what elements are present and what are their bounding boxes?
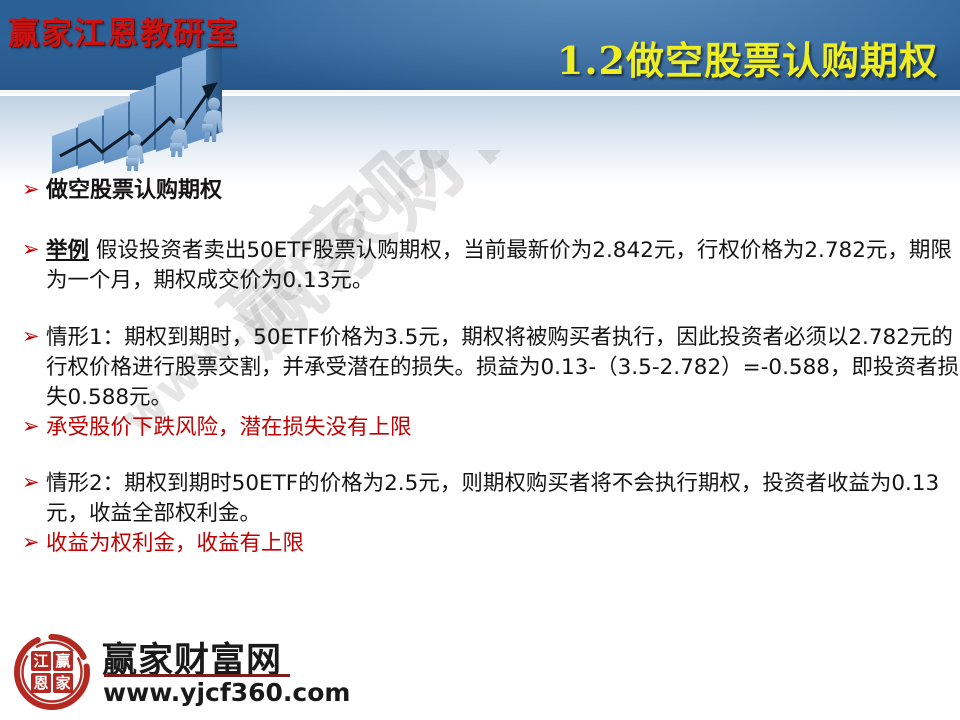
svg-text:家: 家 xyxy=(55,674,70,692)
seal-stamp-icon: 江 赢 恩 家 xyxy=(12,632,92,712)
page-title: 1.2做空股票认购期权 xyxy=(557,30,938,85)
arrow-bullet-icon: ➢ xyxy=(22,324,40,348)
svg-text:赢: 赢 xyxy=(55,652,70,670)
arrow-bullet-icon: ➢ xyxy=(22,530,40,554)
brand-website[interactable]: www.yjcf360.com xyxy=(103,678,350,707)
bullet-example-text: 举例 假设投资者卖出50ETF股票认购期权，当前最新价为2.842元，行权价格为… xyxy=(46,236,960,296)
brand-rule xyxy=(104,674,290,677)
bullet-scenario-1-text: 情形1：期权到期时，50ETF价格为3.5元，期权将被购买者执行，因此投资者必须… xyxy=(46,323,960,413)
arrow-bullet-icon: ➢ xyxy=(22,177,40,201)
brand-logo: 江 赢 恩 家 赢家财富网 www.yjcf360.com xyxy=(10,626,320,712)
svg-text:江: 江 xyxy=(33,652,48,670)
spacer xyxy=(0,206,960,236)
bullet-scenario-1: ➢ 情形1：期权到期时，50ETF价格为3.5元，期权将被购买者执行，因此投资者… xyxy=(0,323,960,413)
bullet-gain-note-text: 收益为权利金，收益有上限 xyxy=(46,529,960,559)
spacer xyxy=(0,296,960,323)
bullet-scenario-2: ➢ 情形2：期权到期时50ETF的价格为2.5元，则期权购买者将不会执行期权，投… xyxy=(0,469,960,529)
bullet-risk-note: ➢ 承受股价下跌风险，潜在损失没有上限 xyxy=(0,413,960,443)
slide-canvas: 赢家江恩教研室 1.2做空股票认购期权 赢家财富网 www.yjcf360.co… xyxy=(0,0,960,720)
research-lab-label: 赢家江恩教研室 xyxy=(8,8,239,53)
bullet-example: ➢ 举例 假设投资者卖出50ETF股票认购期权，当前最新价为2.842元，行权价… xyxy=(0,236,960,296)
bullet-heading-text: 做空股票认购期权 xyxy=(46,176,960,206)
bullet-gain-note: ➢ 收益为权利金，收益有上限 xyxy=(0,529,960,559)
bullet-scenario-2-text: 情形2：期权到期时50ETF的价格为2.5元，则期权购买者将不会执行期权，投资者… xyxy=(46,469,960,529)
svg-text:恩: 恩 xyxy=(33,674,48,692)
bullet-heading: ➢ 做空股票认购期权 xyxy=(0,176,960,206)
bullet-example-emphasis: 举例 xyxy=(46,238,89,263)
slide-body: ➢ 做空股票认购期权 ➢ 举例 假设投资者卖出50ETF股票认购期权，当前最新价… xyxy=(0,176,960,604)
bullet-example-rest: 假设投资者卖出50ETF股票认购期权，当前最新价为2.842元，行权价格为2.7… xyxy=(46,238,952,293)
arrow-bullet-icon: ➢ xyxy=(22,414,40,438)
arrow-bullet-icon: ➢ xyxy=(22,470,40,494)
arrow-bullet-icon: ➢ xyxy=(22,237,40,261)
footer: 江 赢 恩 家 赢家财富网 www.yjcf360.com 地址：郑州市经三路与… xyxy=(0,612,960,720)
bullet-risk-note-text: 承受股价下跌风险，潜在损失没有上限 xyxy=(46,413,960,443)
spacer xyxy=(0,443,960,469)
